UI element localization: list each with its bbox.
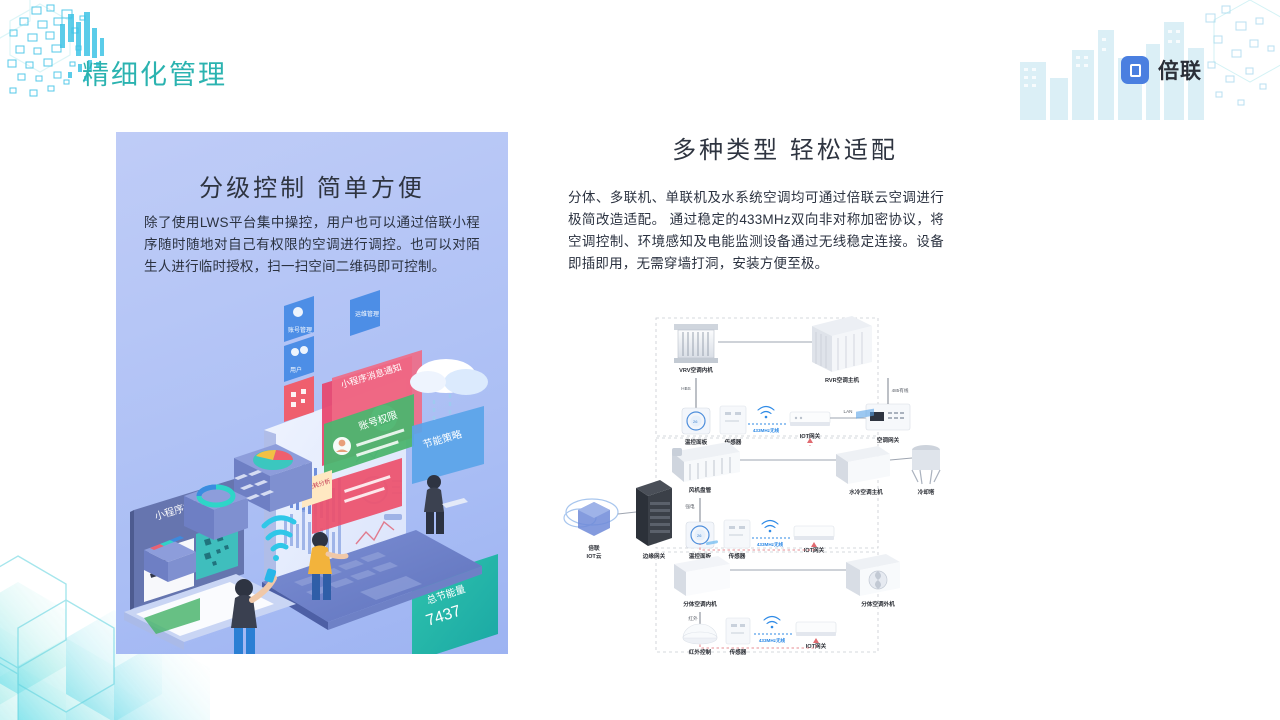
label-split-indoor: 分体空调内机 — [683, 600, 717, 608]
label-cloud-line2: IOT云 — [587, 553, 602, 560]
right-feature-column: 多种类型 轻松适配 分体、多联机、单联机及水系统空调均可通过倍联云空调进行极简改… — [560, 130, 1160, 660]
label-ac-gateway: 空调网关 — [877, 436, 900, 444]
cassette-ac-icon — [674, 324, 718, 363]
uplink-arrow-markers — [807, 438, 819, 643]
sensor-icon — [720, 406, 746, 434]
iot-gateway-icon-2 — [794, 526, 834, 540]
row-vrv: VRV空调内机 RVR空调主机 — [674, 316, 910, 446]
svg-text:26: 26 — [693, 419, 698, 424]
right-col-body: 分体、多联机、单联机及水系统空调均可通过倍联云空调进行极简改造适配。 通过稳定的… — [568, 187, 944, 275]
label-fan-coil: 风机盘管 — [689, 486, 712, 494]
label-cooling-tower: 冷却塔 — [918, 488, 935, 496]
svg-text:用户: 用户 — [290, 366, 302, 374]
user-add-icon — [293, 307, 303, 317]
left-card-body: 除了使用LWS平台集中操控，用户也可以通过倍联小程序随时随地对自己有权限的空调进… — [144, 212, 480, 278]
link-label-ir: 红外 — [688, 615, 698, 622]
brand-logo: 倍联 — [1121, 55, 1202, 85]
wifi-icon-1 — [758, 407, 774, 419]
link-label-power: 强电 — [685, 503, 695, 510]
label-sensor-3: 传感器 — [729, 648, 747, 656]
iot-gateway-icon — [790, 412, 830, 426]
link-label-hbs: HBS — [681, 386, 690, 391]
wifi-icon-2 — [762, 521, 778, 533]
wifi-icon-3 — [764, 617, 780, 629]
left-feature-card: 分级控制 简单方便 除了使用LWS平台集中操控，用户也可以通过倍联小程序随时随地… — [116, 132, 508, 654]
split-outdoor-unit-icon — [846, 554, 900, 596]
sensor-icon-3 — [726, 618, 750, 644]
label-ir-controller: 红外控制 — [689, 648, 712, 656]
person-sitting — [424, 475, 468, 534]
label-wireless-3: 433MHz无线 — [759, 637, 786, 644]
svg-text:运维管理: 运维管理 — [355, 310, 379, 318]
thermostat-panel-icon: 26 — [682, 408, 710, 434]
label-vrv-outdoor: RVR空调主机 — [825, 376, 859, 384]
label-wireless-2: 433MHz无线 — [757, 541, 784, 548]
svg-text:账号管理: 账号管理 — [288, 326, 312, 334]
label-vrv-indoor: VRV空调内机 — [679, 366, 713, 374]
hvac-iot-topology-diagram: VRV空调内机 RVR空调主机 — [560, 300, 970, 660]
page-header: 精细化管理 倍联 — [0, 0, 1280, 120]
label-thermostat-1: 温控面板 — [685, 438, 708, 446]
server-rack-icon — [636, 480, 672, 546]
ir-controller-icon — [683, 624, 717, 644]
label-edge-gateway: 边缘网关 — [642, 552, 666, 560]
split-indoor-unit-icon — [674, 540, 730, 596]
svg-text:26: 26 — [697, 533, 702, 538]
label-wireless-1: 433MHz无线 — [753, 427, 780, 434]
sensor-icon-2 — [724, 520, 750, 548]
rounded-square-icon — [1121, 56, 1149, 84]
page-title: 精细化管理 — [82, 53, 227, 92]
cooling-tower-icon — [912, 445, 940, 484]
label-split-outdoor: 分体空调外机 — [861, 600, 895, 608]
label-cloud-line1: 倍联 — [588, 544, 600, 552]
right-col-title: 多种类型 轻松适配 — [570, 130, 1000, 165]
iot-gateway-icon-3 — [796, 622, 836, 636]
left-card-title: 分级控制 简单方便 — [116, 168, 508, 203]
vrv-outdoor-unit-icon — [812, 316, 872, 372]
fan-coil-unit-icon — [672, 442, 740, 482]
label-water-chiller: 水冷空调主机 — [848, 488, 883, 496]
brand-name: 倍联 — [1158, 55, 1202, 85]
row-water-system: 风机盘管 水冷空调主机 冷却塔 — [672, 409, 940, 560]
link-label-485: 485有线 — [892, 387, 909, 394]
card-energy-strategy: 节能策略 — [412, 394, 484, 484]
label-sensor-2: 传感器 — [728, 552, 746, 560]
pie-chart-icon — [253, 450, 293, 470]
isometric-smart-control-illustration: 小程序扫码调控 账号管理 — [116, 282, 508, 654]
cloud-icon-diagram — [564, 499, 618, 536]
link-label-lan: LAN — [844, 409, 853, 414]
slide-content: 分级控制 简单方便 除了使用LWS平台集中操控，用户也可以通过倍联小程序随时随地… — [0, 120, 1280, 720]
ac-gateway-icon — [866, 404, 910, 430]
